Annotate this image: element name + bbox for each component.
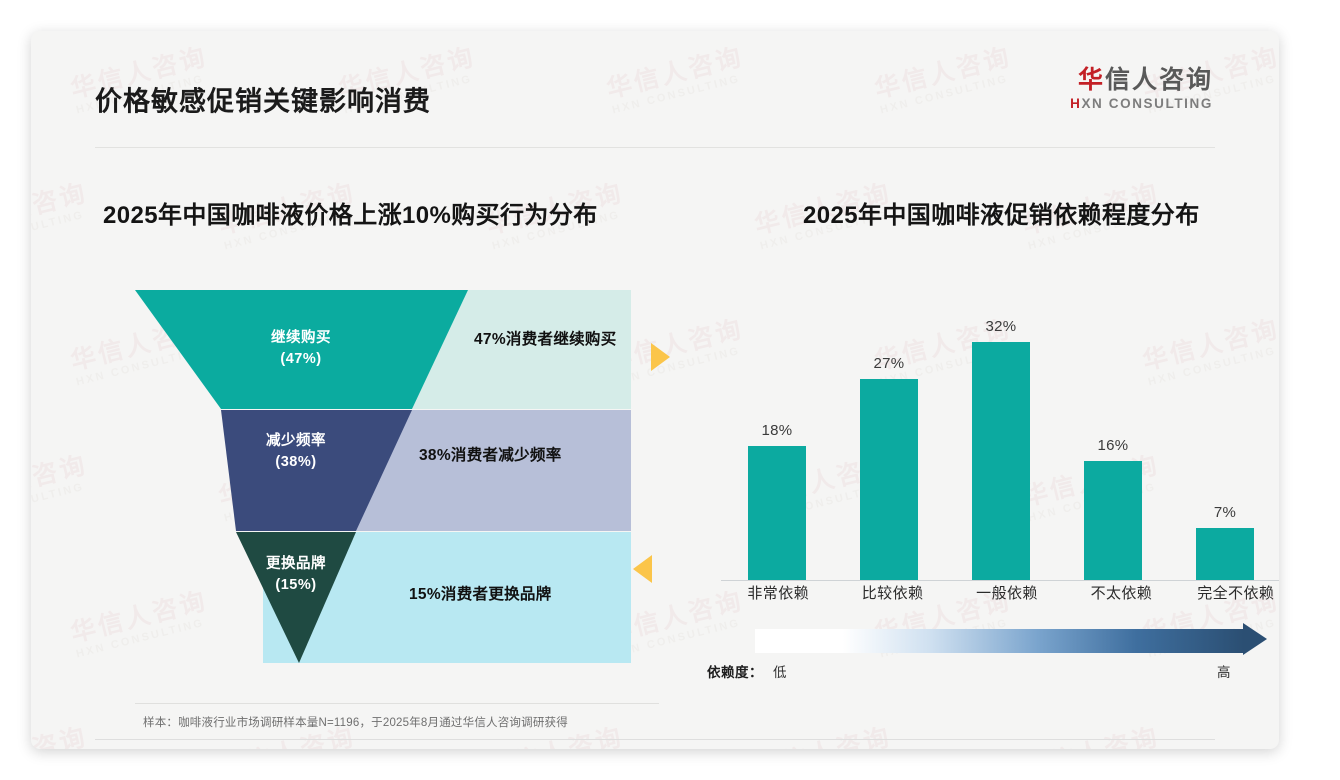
bar-slot: 16% [1063,281,1164,580]
bar-chart-axis [721,580,1279,581]
bar-chart-category-labels: 非常依赖比较依赖一般依赖不太依赖完全不依赖 [721,582,1279,603]
footnote-divider [135,703,659,704]
footnote: 样本：咖啡液行业市场调研样本量N=1196，于2025年8月通过华信人咨询调研获… [143,714,568,730]
logo-en-rest: XN CONSULTING [1081,96,1213,111]
play-triangle-right-icon [651,343,670,371]
bar-rect[interactable] [1084,461,1142,580]
bar-rect[interactable] [860,379,918,580]
funnel-graphic [31,31,691,749]
funnel-segment-1-label: 继续购买 (47%) [221,328,381,369]
funnel-value-text-1: (47%) [280,351,321,367]
bar-category-label: 比较依赖 [841,582,944,603]
right-chart-subtitle: 2025年中国咖啡液促销依赖程度分布 [803,195,1200,230]
slide-card: 华信人咨询HXN CONSULTING华信人咨询HXN CONSULTING华信… [31,31,1279,749]
logo-chinese-rest: 信人咨询 [1105,66,1213,94]
bar-category-label: 非常依赖 [727,582,830,603]
gradient-arrow-icon [1243,623,1267,655]
bar-value-label: 32% [986,318,1017,335]
bar-slot: 7% [1175,281,1276,580]
funnel-segment-3-label: 更换品牌 (15%) [216,554,376,595]
gradient-bar [755,629,1243,653]
bar-value-label: 27% [874,355,905,372]
gradient-high-label: 高 [1217,661,1231,681]
watermark: 华信人咨询HXN CONSULTING [752,725,897,749]
bar-slot: 32% [951,281,1052,580]
bar-value-label: 16% [1098,437,1129,454]
logo-chinese: 华信人咨询 [1070,67,1213,93]
footer-divider [95,739,1215,740]
logo-en-accent: H [1070,96,1081,111]
funnel-label-text-2: 减少频率 [266,433,326,449]
bar-rect[interactable] [1196,528,1254,580]
bar-slot: 18% [727,281,828,580]
gradient-low-label: 低 [773,661,787,681]
funnel-label-text-3: 更换品牌 [266,556,326,572]
logo-accent-char: 华 [1078,66,1105,94]
bar-rect[interactable] [748,446,806,580]
bar-rect[interactable] [972,342,1030,580]
watermark: 华信人咨询HXN CONSULTING [1020,725,1165,749]
logo-english: HXN CONSULTING [1070,96,1213,111]
bar-category-label: 完全不依赖 [1184,582,1279,603]
funnel-segment-2-label: 减少频率 (38%) [216,431,376,472]
funnel-value-text-3: (15%) [275,577,316,593]
funnel-side-text-1: 47%消费者继续购买 [474,327,617,349]
bar-value-label: 18% [762,422,793,439]
bar-category-label: 一般依赖 [956,582,1059,603]
funnel-value-text-2: (38%) [275,454,316,470]
dependency-gradient-scale: 依赖度： 低 高 [707,627,1279,689]
play-triangle-left-icon [633,555,652,583]
bar-chart-bars: 18%27%32%16%7% [721,281,1279,580]
funnel-side-text-3: 15%消费者更换品牌 [409,582,552,604]
bar-slot: 27% [839,281,940,580]
company-logo: 华信人咨询 HXN CONSULTING [1070,67,1213,111]
funnel-chart: 继续购买 (47%) 减少频率 (38%) 更换品牌 (15%) 47%消费者继… [31,31,691,749]
funnel-side-text-2: 38%消费者减少频率 [419,443,562,465]
gradient-scale-label: 依赖度： [707,661,763,681]
funnel-label-text-1: 继续购买 [271,330,331,346]
bar-chart: 18%27%32%16%7% [707,281,1279,581]
bar-value-label: 7% [1214,504,1236,521]
bar-category-label: 不太依赖 [1070,582,1173,603]
